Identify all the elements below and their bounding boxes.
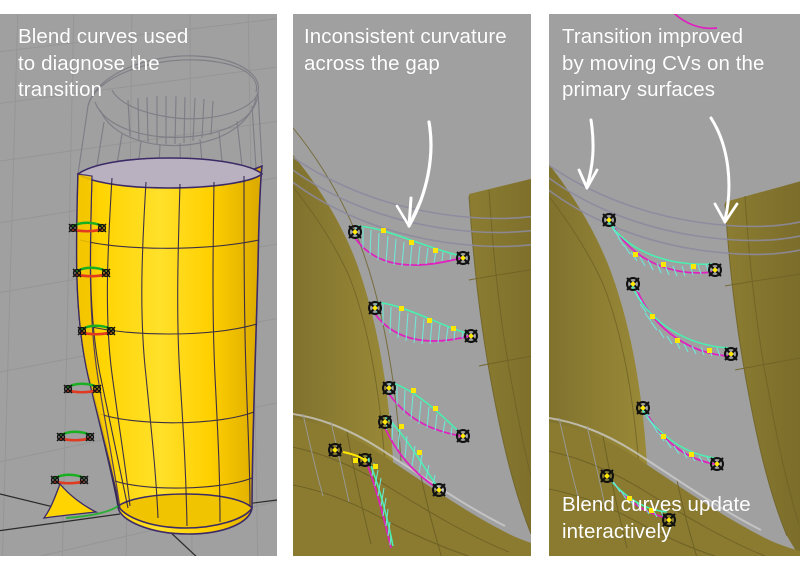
panel3-scene: [549, 14, 800, 556]
panel1-scene: [0, 14, 277, 556]
panel-before-viewport[interactable]: [293, 14, 531, 556]
panel2-scene: [293, 14, 531, 556]
panel-overview-viewport[interactable]: [0, 14, 277, 556]
panel-after-viewport[interactable]: [549, 14, 800, 556]
slide-canvas: Blend curves used to diagnose the transi…: [0, 0, 800, 576]
